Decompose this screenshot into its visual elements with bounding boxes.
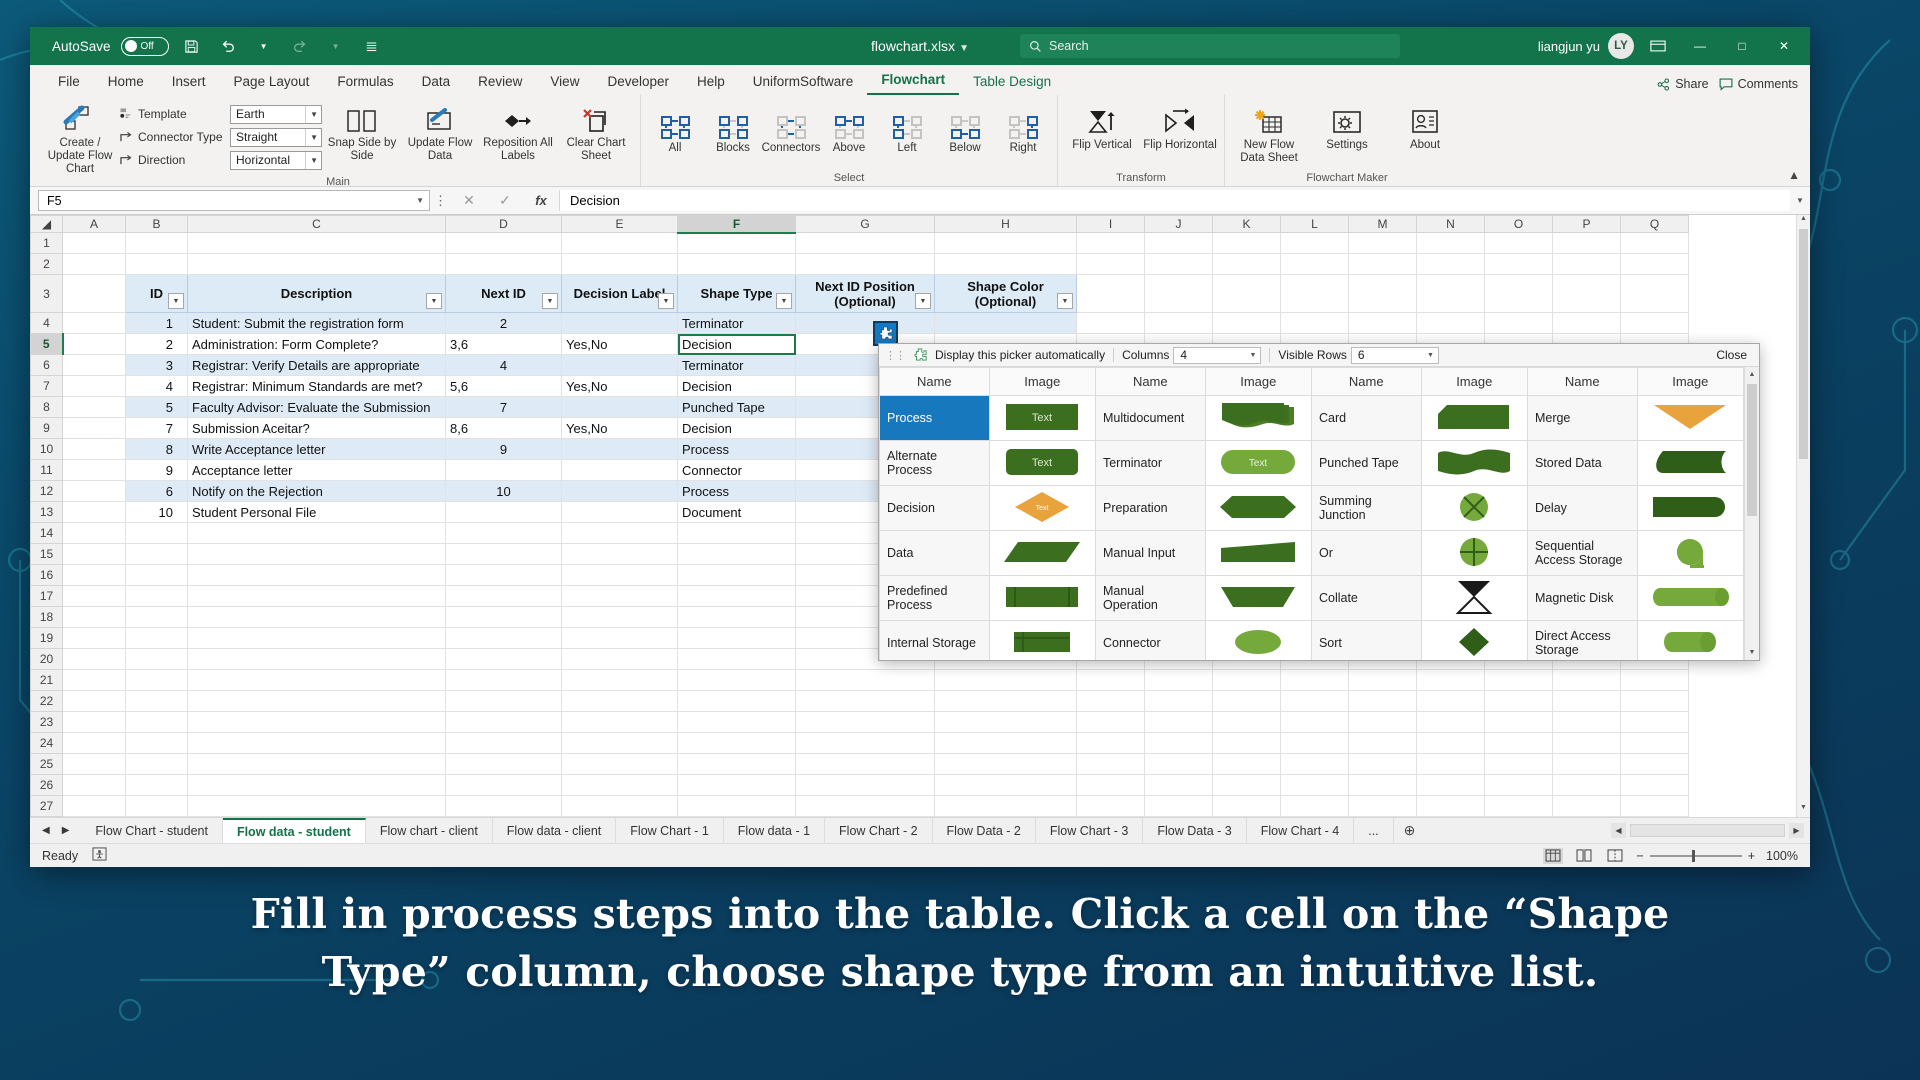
cell-next-id[interactable]: 9: [446, 439, 562, 460]
cell[interactable]: [562, 754, 678, 775]
row-header-8[interactable]: 8: [31, 397, 63, 418]
cell[interactable]: [1281, 733, 1349, 754]
shape-image-data[interactable]: [989, 531, 1095, 576]
cell[interactable]: [1145, 691, 1213, 712]
cell-next-id[interactable]: [446, 502, 562, 523]
cell[interactable]: [562, 607, 678, 628]
shape-image-merge[interactable]: [1637, 396, 1743, 441]
cell[interactable]: [562, 712, 678, 733]
cell[interactable]: [678, 775, 796, 796]
cell[interactable]: [188, 586, 446, 607]
cell[interactable]: [63, 733, 126, 754]
cell[interactable]: [1621, 733, 1689, 754]
cell[interactable]: [1213, 775, 1281, 796]
cell-shape-type[interactable]: Process: [678, 439, 796, 460]
shape-image-delay[interactable]: [1637, 486, 1743, 531]
cell[interactable]: [935, 817, 1077, 818]
share-button[interactable]: Share: [1657, 77, 1708, 91]
cell[interactable]: [678, 796, 796, 817]
row-header-4[interactable]: 4: [31, 313, 63, 334]
ribbon-tab-developer[interactable]: Developer: [593, 70, 683, 95]
shape-name-stored-data[interactable]: Stored Data: [1527, 441, 1637, 486]
cell[interactable]: [678, 649, 796, 670]
cell[interactable]: [1417, 712, 1485, 733]
cell[interactable]: [935, 254, 1077, 275]
shape-name-collate[interactable]: Collate: [1311, 576, 1421, 621]
cell[interactable]: [188, 544, 446, 565]
cell[interactable]: [446, 254, 562, 275]
settings-button[interactable]: Settings: [1309, 103, 1385, 152]
cell[interactable]: [1281, 691, 1349, 712]
accessibility-checker-icon[interactable]: [92, 847, 107, 864]
chevron-down-icon[interactable]: ▼: [305, 129, 318, 146]
shape-name-data[interactable]: Data: [880, 531, 990, 576]
update-flow-data-button[interactable]: Update Flow Data: [402, 101, 478, 163]
column-header-c[interactable]: C: [188, 216, 446, 233]
shape-image-process[interactable]: Text: [989, 396, 1095, 441]
shape-name-or[interactable]: Or: [1311, 531, 1421, 576]
sheet-tab-flow-data-3[interactable]: Flow Data - 3: [1143, 818, 1246, 843]
sheet-tab-flow-chart-4[interactable]: Flow Chart - 4: [1247, 818, 1355, 843]
sheet-tab-flow-chart-3[interactable]: Flow Chart - 3: [1036, 818, 1144, 843]
cell[interactable]: [1621, 254, 1689, 275]
column-header-l[interactable]: L: [1281, 216, 1349, 233]
autosave-toggle[interactable]: Off: [121, 37, 169, 56]
spreadsheet-grid[interactable]: ◢ A B C D E F G H I J K L M N O P Q 1: [30, 215, 1810, 817]
cell[interactable]: [188, 691, 446, 712]
reposition-all-labels-button[interactable]: Reposition All Labels: [480, 101, 556, 163]
cell[interactable]: [1485, 817, 1553, 818]
prev-sheet-icon[interactable]: ◀: [42, 825, 50, 836]
filter-icon[interactable]: ▼: [776, 293, 792, 309]
cell[interactable]: [1485, 275, 1553, 313]
select-all-button[interactable]: All: [647, 109, 703, 155]
insert-function-icon[interactable]: fx: [523, 193, 559, 208]
cell[interactable]: [1621, 313, 1689, 334]
cell[interactable]: [678, 586, 796, 607]
cell[interactable]: [1553, 313, 1621, 334]
horizontal-scrollbar[interactable]: ◀ ▶: [1611, 818, 1810, 843]
cell[interactable]: [562, 254, 678, 275]
normal-view-icon[interactable]: [1543, 848, 1563, 864]
cell-id[interactable]: 5: [126, 397, 188, 418]
cell[interactable]: [796, 817, 935, 818]
close-icon[interactable]: ✕: [1766, 31, 1802, 61]
cell[interactable]: [188, 775, 446, 796]
cell[interactable]: [1213, 733, 1281, 754]
zoom-track[interactable]: [1650, 855, 1742, 857]
shape-name-connector[interactable]: Connector: [1095, 621, 1205, 661]
column-header-o[interactable]: O: [1485, 216, 1553, 233]
cell[interactable]: [126, 607, 188, 628]
shape-name-alternate-process[interactable]: Alternate Process: [880, 441, 990, 486]
name-box[interactable]: F5 ▼: [38, 190, 430, 211]
shape-name-merge[interactable]: Merge: [1527, 396, 1637, 441]
cell-decision-label[interactable]: [562, 313, 678, 334]
cell[interactable]: [63, 649, 126, 670]
avatar[interactable]: LY: [1608, 33, 1634, 59]
shape-name-preparation[interactable]: Preparation: [1095, 486, 1205, 531]
cell[interactable]: [1485, 691, 1553, 712]
table-header-shape-color[interactable]: Shape Color (Optional)▼: [935, 275, 1077, 313]
cell[interactable]: [446, 544, 562, 565]
cell[interactable]: [1485, 670, 1553, 691]
select-left-button[interactable]: Left: [879, 109, 935, 155]
cell[interactable]: [446, 233, 562, 254]
row-header-28[interactable]: 28: [31, 817, 63, 818]
cell[interactable]: [562, 775, 678, 796]
sheet-tab-flow-chart-client[interactable]: Flow chart - client: [366, 818, 493, 843]
cell-next-id[interactable]: 7: [446, 397, 562, 418]
cell[interactable]: [678, 628, 796, 649]
shape-name-process[interactable]: Process: [880, 396, 990, 441]
row-header-19[interactable]: 19: [31, 628, 63, 649]
cell[interactable]: [63, 817, 126, 818]
cell[interactable]: [1145, 817, 1213, 818]
column-header-a[interactable]: A: [63, 216, 126, 233]
cell[interactable]: [678, 565, 796, 586]
shape-image-multidocument[interactable]: [1205, 396, 1311, 441]
cell[interactable]: [63, 376, 126, 397]
shape-image-preparation[interactable]: [1205, 486, 1311, 531]
cell[interactable]: [935, 233, 1077, 254]
cell[interactable]: [562, 233, 678, 254]
cell[interactable]: [446, 733, 562, 754]
cell[interactable]: [1145, 754, 1213, 775]
cell[interactable]: [188, 733, 446, 754]
cell[interactable]: [1077, 233, 1145, 254]
table-header-id[interactable]: ID▼: [126, 275, 188, 313]
shape-image-magnetic-disk[interactable]: [1637, 576, 1743, 621]
cell[interactable]: [796, 691, 935, 712]
shape-image-card[interactable]: [1421, 396, 1527, 441]
cell[interactable]: [63, 691, 126, 712]
cell[interactable]: [1213, 254, 1281, 275]
select-below-button[interactable]: Below: [937, 109, 993, 155]
row-header-13[interactable]: 13: [31, 502, 63, 523]
cell[interactable]: [1349, 233, 1417, 254]
cell[interactable]: [446, 817, 562, 818]
cell[interactable]: [126, 691, 188, 712]
cell[interactable]: [1417, 670, 1485, 691]
cell[interactable]: [796, 796, 935, 817]
cell[interactable]: [562, 733, 678, 754]
row-header-27[interactable]: 27: [31, 796, 63, 817]
drag-handle[interactable]: ⋮⋮: [885, 349, 905, 362]
about-button[interactable]: About: [1387, 103, 1463, 152]
cell[interactable]: [1485, 775, 1553, 796]
zoom-out-icon[interactable]: −: [1636, 849, 1643, 863]
shape-image-or[interactable]: [1421, 531, 1527, 576]
cell[interactable]: [126, 586, 188, 607]
scroll-up-icon[interactable]: ▲: [1797, 215, 1810, 228]
cell-shape-type[interactable]: Punched Tape: [678, 397, 796, 418]
row-header-21[interactable]: 21: [31, 670, 63, 691]
ribbon-tab-file[interactable]: File: [44, 70, 94, 95]
shape-name-sequential-access-storage[interactable]: Sequential Access Storage: [1527, 531, 1637, 576]
cell[interactable]: [188, 628, 446, 649]
cell-shape-type[interactable]: Decision: [678, 376, 796, 397]
cell[interactable]: [1281, 754, 1349, 775]
cell[interactable]: [935, 775, 1077, 796]
row-header-1[interactable]: 1: [31, 233, 63, 254]
cell[interactable]: [1077, 313, 1145, 334]
cell[interactable]: [678, 523, 796, 544]
cell-id[interactable]: 10: [126, 502, 188, 523]
cell[interactable]: [1485, 233, 1553, 254]
chevron-down-icon[interactable]: ▼: [1427, 352, 1434, 359]
row-header-3[interactable]: 3: [31, 275, 63, 313]
filter-icon[interactable]: ▼: [168, 293, 184, 309]
scroll-left-icon[interactable]: ◀: [1611, 823, 1626, 838]
filter-icon[interactable]: ▼: [542, 293, 558, 309]
cell[interactable]: [1145, 775, 1213, 796]
cell[interactable]: [1417, 817, 1485, 818]
cell[interactable]: [446, 586, 562, 607]
cell[interactable]: [446, 712, 562, 733]
filter-icon[interactable]: ▼: [915, 293, 931, 309]
cancel-icon[interactable]: ✕: [451, 192, 487, 209]
cell[interactable]: [1145, 233, 1213, 254]
shape-name-terminator[interactable]: Terminator: [1095, 441, 1205, 486]
ribbon-display-options-icon[interactable]: [1640, 31, 1676, 61]
column-header-b[interactable]: B: [126, 216, 188, 233]
ribbon-tab-table-design[interactable]: Table Design: [959, 70, 1065, 95]
cell[interactable]: [1621, 670, 1689, 691]
row-header-23[interactable]: 23: [31, 712, 63, 733]
cell[interactable]: [446, 670, 562, 691]
cell[interactable]: [63, 254, 126, 275]
cell[interactable]: [188, 233, 446, 254]
column-header-k[interactable]: K: [1213, 216, 1281, 233]
cell-description[interactable]: Acceptance letter: [188, 460, 446, 481]
cell[interactable]: [1349, 275, 1417, 313]
cell[interactable]: [1349, 712, 1417, 733]
cell-shape-type[interactable]: Process: [678, 481, 796, 502]
filter-icon[interactable]: ▼: [658, 293, 674, 309]
cell[interactable]: [1213, 275, 1281, 313]
cell[interactable]: [188, 565, 446, 586]
columns-combo[interactable]: 4▼: [1173, 347, 1261, 364]
shape-image-sort[interactable]: [1421, 621, 1527, 661]
cell[interactable]: [446, 565, 562, 586]
shape-image-internal-storage[interactable]: [989, 621, 1095, 661]
scroll-down-icon[interactable]: ▼: [1745, 645, 1759, 660]
cell[interactable]: [63, 754, 126, 775]
cell[interactable]: [1213, 712, 1281, 733]
cell[interactable]: [1349, 817, 1417, 818]
new-flow-data-sheet-button[interactable]: New Flow Data Sheet: [1231, 103, 1307, 165]
shape-name-summing-junction[interactable]: Summing Junction: [1311, 486, 1421, 531]
shape-name-card[interactable]: Card: [1311, 396, 1421, 441]
picker-scrollbar[interactable]: ▲ ▼: [1744, 367, 1759, 660]
cell[interactable]: [1349, 670, 1417, 691]
cell[interactable]: [63, 628, 126, 649]
shape-image-decision[interactable]: Text: [989, 486, 1095, 531]
cell-decision-label[interactable]: Yes,No: [562, 418, 678, 439]
cell[interactable]: [1213, 233, 1281, 254]
cell-next-id[interactable]: 5,6: [446, 376, 562, 397]
ribbon-tab-help[interactable]: Help: [683, 70, 739, 95]
restore-icon[interactable]: □: [1724, 31, 1760, 61]
shape-name-direct-access-storage[interactable]: Direct Access Storage: [1527, 621, 1637, 661]
cell[interactable]: [796, 254, 935, 275]
direction-field[interactable]: Direction: [120, 153, 224, 167]
cell[interactable]: [1417, 775, 1485, 796]
column-header-m[interactable]: M: [1349, 216, 1417, 233]
cell[interactable]: [63, 481, 126, 502]
ribbon-tab-formulas[interactable]: Formulas: [323, 70, 407, 95]
cell[interactable]: [188, 649, 446, 670]
cell[interactable]: [1553, 712, 1621, 733]
cell[interactable]: [63, 460, 126, 481]
column-header-g[interactable]: G: [796, 216, 935, 233]
cell[interactable]: [126, 775, 188, 796]
shape-image-sequential-access-storage[interactable]: [1637, 531, 1743, 576]
cell-next-id[interactable]: 10: [446, 481, 562, 502]
collapse-ribbon-icon[interactable]: ▲: [1788, 168, 1800, 182]
cell[interactable]: [1417, 254, 1485, 275]
shape-image-manual-operation[interactable]: [1205, 576, 1311, 621]
cell[interactable]: [1281, 670, 1349, 691]
cell[interactable]: [1485, 313, 1553, 334]
cell[interactable]: [1349, 775, 1417, 796]
shape-name-manual-input[interactable]: Manual Input: [1095, 531, 1205, 576]
cell[interactable]: [1077, 796, 1145, 817]
title-dropdown-icon[interactable]: ▼: [959, 43, 969, 54]
cell[interactable]: [188, 796, 446, 817]
column-header-q[interactable]: Q: [1621, 216, 1689, 233]
cell[interactable]: [1077, 733, 1145, 754]
cell[interactable]: [1417, 233, 1485, 254]
row-header-9[interactable]: 9: [31, 418, 63, 439]
cell[interactable]: [63, 796, 126, 817]
cell-id[interactable]: 6: [126, 481, 188, 502]
cell[interactable]: [1213, 796, 1281, 817]
ribbon-tab-data[interactable]: Data: [408, 70, 465, 95]
cell[interactable]: [188, 670, 446, 691]
shape-image-punched-tape[interactable]: [1421, 441, 1527, 486]
cell[interactable]: [126, 733, 188, 754]
row-header-7[interactable]: 7: [31, 376, 63, 397]
cell[interactable]: [1077, 817, 1145, 818]
cell-decision-label[interactable]: [562, 481, 678, 502]
cell[interactable]: [1281, 712, 1349, 733]
row-header-25[interactable]: 25: [31, 754, 63, 775]
cell[interactable]: [1281, 313, 1349, 334]
cell[interactable]: [126, 649, 188, 670]
cell-decision-label[interactable]: Yes,No: [562, 334, 678, 355]
cell[interactable]: [1213, 817, 1281, 818]
shape-name-magnetic-disk[interactable]: Magnetic Disk: [1527, 576, 1637, 621]
cell[interactable]: [1485, 796, 1553, 817]
cell[interactable]: [63, 502, 126, 523]
cell-description[interactable]: Administration: Form Complete?: [188, 334, 446, 355]
cell-shape-type-active[interactable]: Decision: [678, 334, 796, 355]
cell[interactable]: [1621, 233, 1689, 254]
cell[interactable]: [1485, 733, 1553, 754]
row-header-20[interactable]: 20: [31, 649, 63, 670]
cell-description[interactable]: Notify on the Rejection: [188, 481, 446, 502]
cell[interactable]: [562, 565, 678, 586]
cell[interactable]: [1553, 691, 1621, 712]
cell[interactable]: [63, 586, 126, 607]
cell-id[interactable]: 7: [126, 418, 188, 439]
cell-decision-label[interactable]: [562, 439, 678, 460]
cell[interactable]: [446, 691, 562, 712]
cell[interactable]: [188, 523, 446, 544]
clear-chart-sheet-button[interactable]: Clear Chart Sheet: [558, 101, 634, 163]
cell[interactable]: [63, 523, 126, 544]
cell[interactable]: [63, 775, 126, 796]
cell[interactable]: [935, 670, 1077, 691]
shape-image-manual-input[interactable]: [1205, 531, 1311, 576]
add-sheet-icon[interactable]: ⊕: [1394, 818, 1426, 843]
cell[interactable]: [1349, 254, 1417, 275]
cell[interactable]: [1213, 670, 1281, 691]
cell[interactable]: [126, 544, 188, 565]
cell[interactable]: [1145, 275, 1213, 313]
table-header-next-id-position[interactable]: Next ID Position (Optional)▼: [796, 275, 935, 313]
row-header-2[interactable]: 2: [31, 254, 63, 275]
cell[interactable]: [935, 754, 1077, 775]
cell-description[interactable]: Faculty Advisor: Evaluate the Submission: [188, 397, 446, 418]
cell-shape-type[interactable]: Connector: [678, 460, 796, 481]
column-header-f[interactable]: F: [678, 216, 796, 233]
cell[interactable]: [1077, 275, 1145, 313]
cell[interactable]: [1417, 796, 1485, 817]
connector-type-combo[interactable]: Straight▼: [230, 128, 322, 147]
minimize-icon[interactable]: —: [1682, 31, 1718, 61]
zoom-in-icon[interactable]: +: [1748, 849, 1755, 863]
customize-quick-access-icon[interactable]: ≣: [359, 33, 385, 59]
cell[interactable]: [188, 712, 446, 733]
ribbon-tab-uniformsoftware[interactable]: UniformSoftware: [739, 70, 868, 95]
cell[interactable]: [678, 670, 796, 691]
cell-description[interactable]: Student: Submit the registration form: [188, 313, 446, 334]
cell-id[interactable]: 4: [126, 376, 188, 397]
cell[interactable]: [1145, 254, 1213, 275]
cell[interactable]: [562, 817, 678, 818]
cell[interactable]: [1553, 817, 1621, 818]
ribbon-tab-insert[interactable]: Insert: [158, 70, 220, 95]
cell-decision-label[interactable]: [562, 502, 678, 523]
cell[interactable]: [678, 254, 796, 275]
cell-description[interactable]: Submission Aceitar?: [188, 418, 446, 439]
cell[interactable]: [796, 233, 935, 254]
cell[interactable]: [1349, 754, 1417, 775]
cell[interactable]: [562, 691, 678, 712]
cell[interactable]: [1145, 733, 1213, 754]
scroll-down-icon[interactable]: ▼: [1797, 804, 1810, 817]
cell[interactable]: [562, 649, 678, 670]
column-header-n[interactable]: N: [1417, 216, 1485, 233]
sheet-tab-overflow[interactable]: ...: [1354, 818, 1393, 843]
cell[interactable]: [1621, 275, 1689, 313]
cell[interactable]: [796, 754, 935, 775]
cell[interactable]: [678, 712, 796, 733]
page-layout-view-icon[interactable]: [1574, 848, 1594, 864]
cell[interactable]: [562, 796, 678, 817]
row-header-16[interactable]: 16: [31, 565, 63, 586]
cell[interactable]: [1553, 775, 1621, 796]
visible-rows-combo[interactable]: 6▼: [1351, 347, 1439, 364]
cell-description[interactable]: Student Personal File: [188, 502, 446, 523]
template-field[interactable]: Template: [120, 107, 224, 121]
cell-decision-label[interactable]: Yes,No: [562, 376, 678, 397]
shape-image-predefined-process[interactable]: [989, 576, 1095, 621]
create-update-flowchart-button[interactable]: Create / Update Flow Chart: [42, 101, 118, 176]
